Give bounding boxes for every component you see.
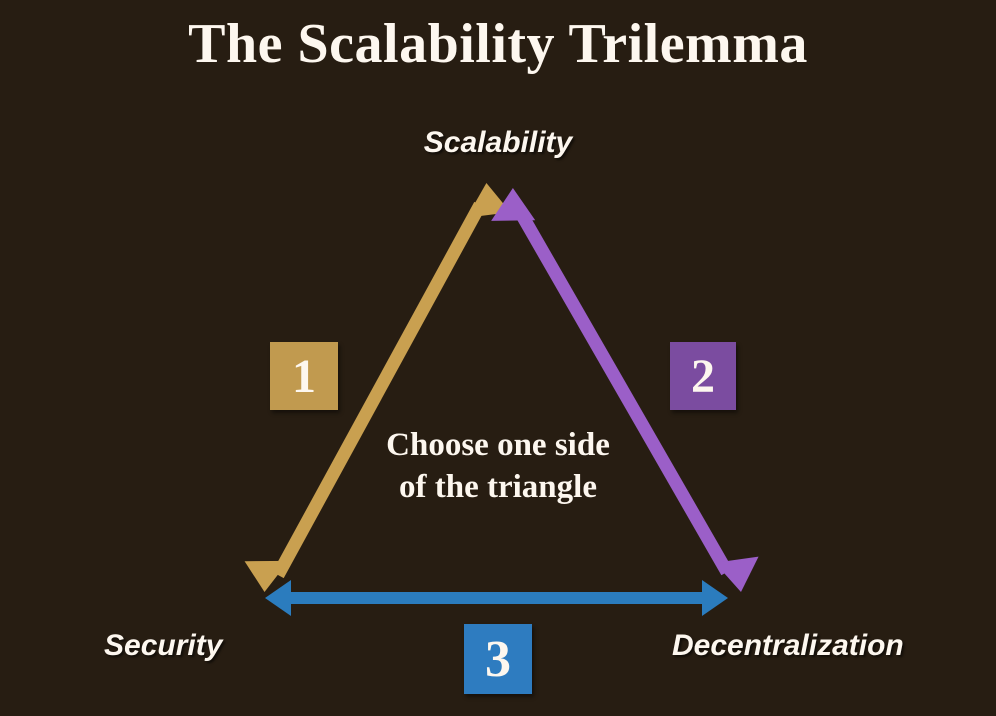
vertex-label-security: Security xyxy=(104,629,222,663)
center-instruction-line-2: of the triangle xyxy=(298,466,698,508)
center-instruction: Choose one side of the triangle xyxy=(298,424,698,508)
triangle-arrows-svg xyxy=(0,0,996,716)
trilemma-diagram: The Scalability Trilemma Scalability Sec… xyxy=(0,0,996,716)
center-instruction-line-1: Choose one side xyxy=(298,424,698,466)
vertex-label-decentralization: Decentralization xyxy=(672,629,904,663)
edge-badge-1: 1 xyxy=(270,342,338,410)
vertex-label-scalability: Scalability xyxy=(0,126,996,160)
edge-badge-2: 2 xyxy=(670,342,736,410)
edge-badge-3: 3 xyxy=(464,624,532,694)
edge-3-blue-arrow xyxy=(265,580,728,616)
